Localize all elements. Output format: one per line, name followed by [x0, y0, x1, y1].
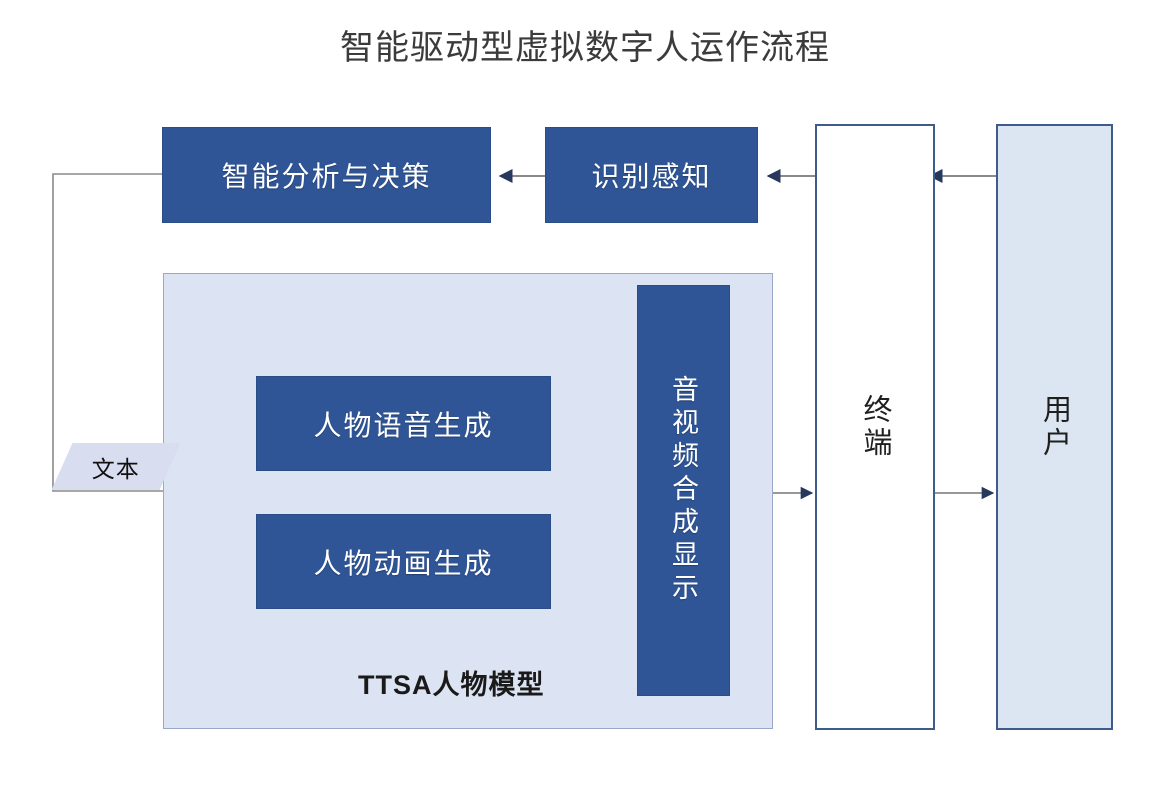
node-intelligent-analysis-label: 智能分析与决策 [221, 155, 431, 195]
ttsa-model-label: TTSA人物模型 [358, 663, 545, 702]
text-input-label[interactable]: 文本 [52, 443, 181, 490]
column-user-label: 用户 [1034, 394, 1076, 460]
node-animation-generation[interactable]: 人物动画生成 [256, 514, 551, 609]
node-intelligent-analysis[interactable]: 智能分析与决策 [162, 127, 491, 223]
text-input-label-text: 文本 [92, 450, 140, 484]
column-terminal-label: 终端 [854, 394, 896, 460]
node-perception[interactable]: 识别感知 [545, 127, 758, 223]
node-animation-generation-label: 人物动画生成 [313, 542, 493, 582]
node-speech-generation[interactable]: 人物语音生成 [256, 376, 551, 471]
node-av-synthesis-display-label: 音视频合成显示 [664, 375, 703, 606]
node-av-synthesis-display[interactable]: 音视频合成显示 [637, 285, 730, 696]
column-terminal[interactable]: 终端 [815, 124, 935, 730]
node-speech-generation-label: 人物语音生成 [313, 404, 493, 444]
page-title: 智能驱动型虚拟数字人运作流程 [0, 26, 1170, 70]
flowchart-canvas: 智能驱动型虚拟数字人运作流程 [0, 0, 1170, 794]
node-perception-label: 识别感知 [591, 155, 711, 195]
column-user[interactable]: 用户 [996, 124, 1113, 730]
